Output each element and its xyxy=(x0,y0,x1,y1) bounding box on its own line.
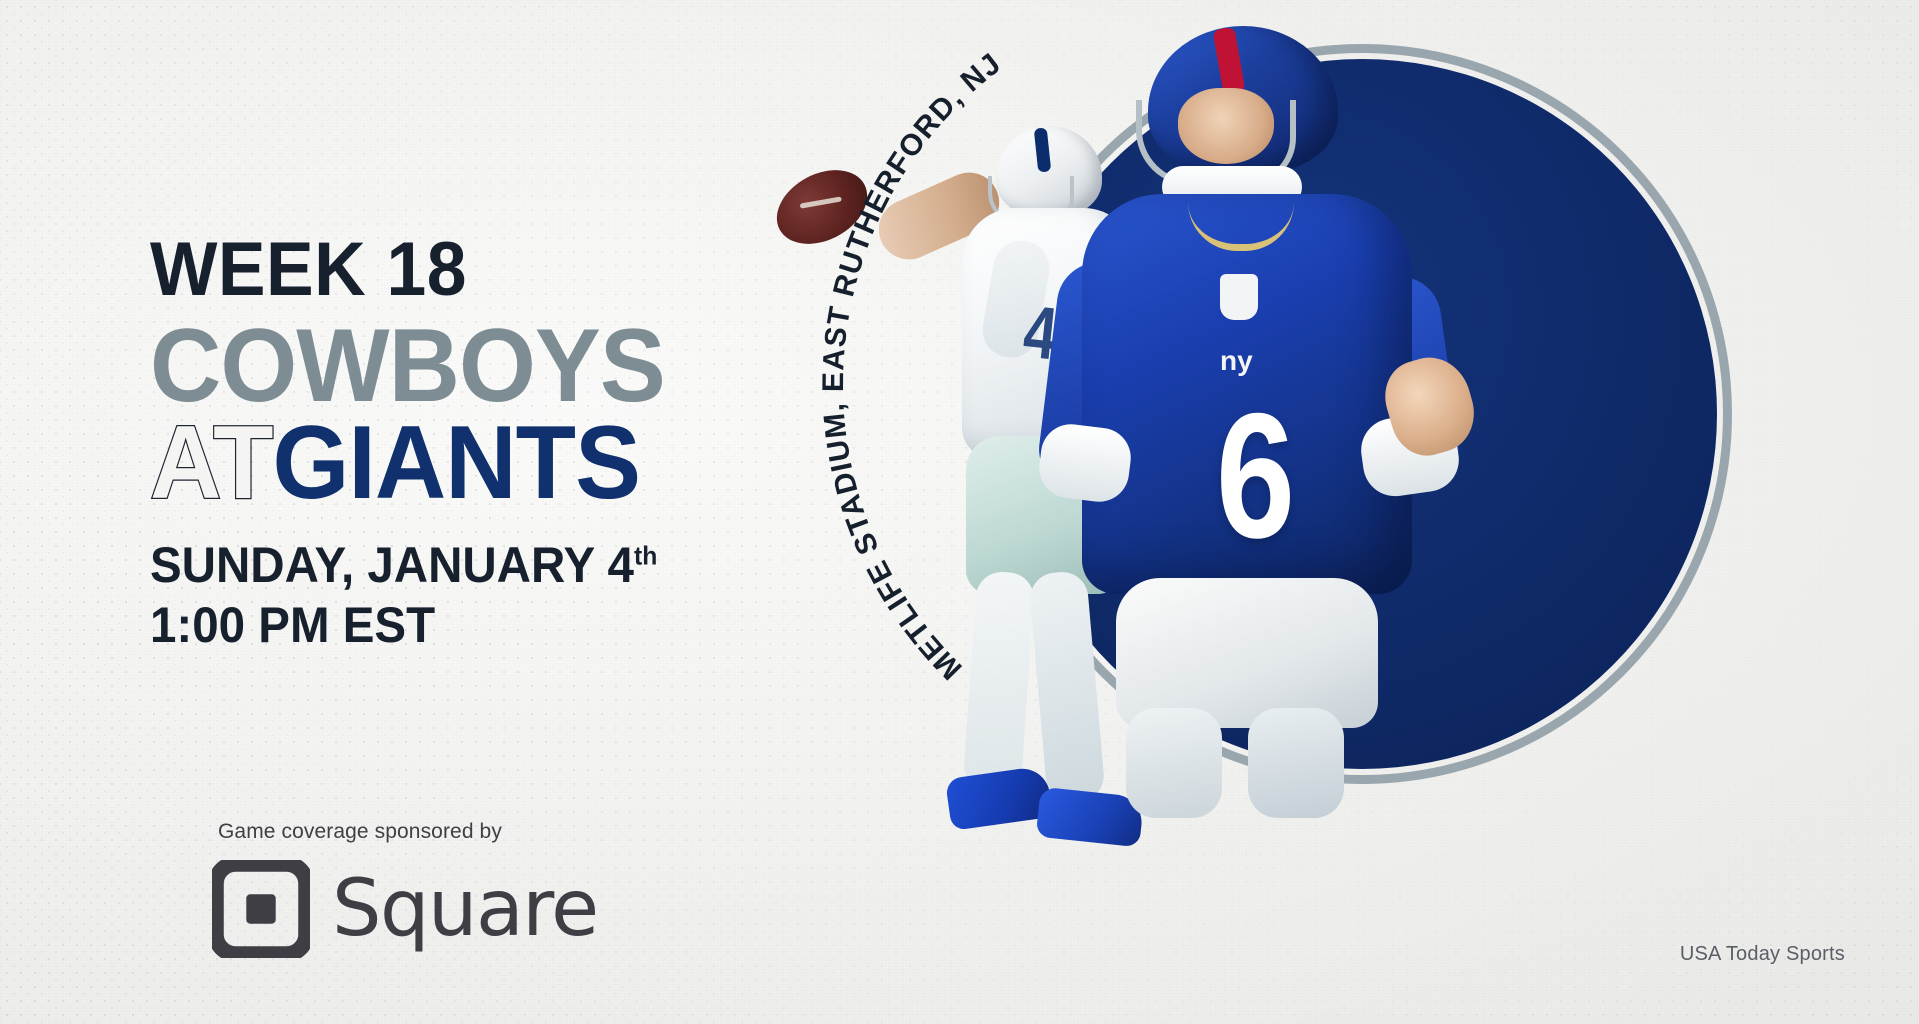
photo-credit: USA Today Sports xyxy=(1680,943,1845,966)
matchup-connector: AT xyxy=(150,415,272,512)
venue-curved-text: METLIFE STADIUM, EAST RUTHERFORD, NJ xyxy=(930,0,1730,794)
game-time: 1:00 PM EST xyxy=(150,597,872,653)
week-label: WEEK 18 xyxy=(150,232,864,308)
sponsor-label: Game coverage sponsored by xyxy=(218,820,632,844)
sponsor-logo[interactable]: Square xyxy=(212,860,632,958)
sponsor-block: Game coverage sponsored by Square xyxy=(212,820,632,958)
matchup-row: AT GIANTS xyxy=(150,415,872,512)
matchup-text-block: WEEK 18 COWBOYS AT GIANTS SUNDAY, JANUAR… xyxy=(150,232,910,653)
game-date-text: SUNDAY, JANUARY 4 xyxy=(150,537,634,593)
game-promo-graphic: WEEK 18 COWBOYS AT GIANTS SUNDAY, JANUAR… xyxy=(0,0,1919,1024)
sponsor-brand-name: Square xyxy=(332,870,598,948)
home-team-name: GIANTS xyxy=(272,415,640,512)
game-date-ordinal: th xyxy=(634,541,657,571)
player-artwork: 4 ny 6 xyxy=(960,0,1919,1024)
away-team-name: COWBOYS xyxy=(150,318,872,415)
game-date: SUNDAY, JANUARY 4th xyxy=(150,537,872,593)
square-logo-icon xyxy=(212,860,310,958)
